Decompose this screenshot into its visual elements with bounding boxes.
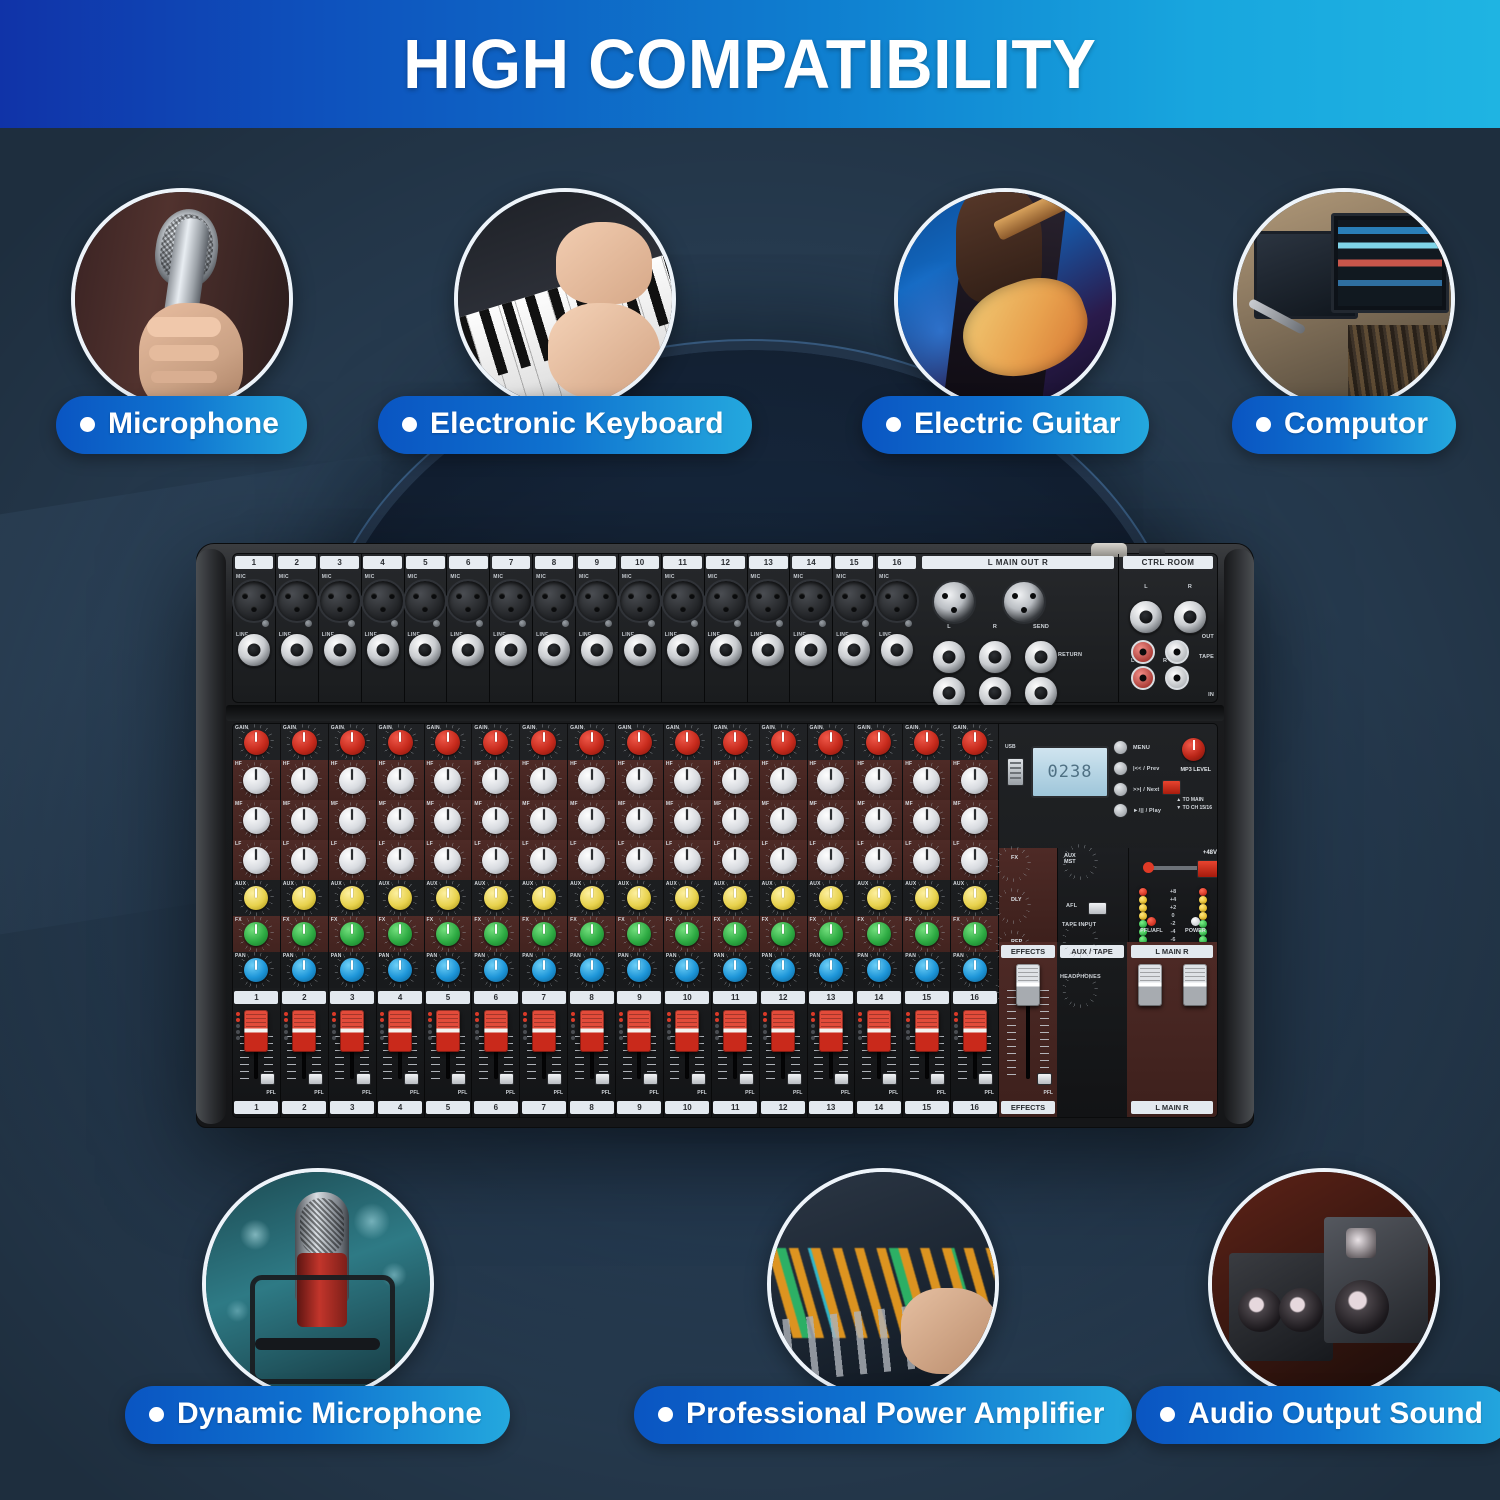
knob-row-lf-ch12: LF [760, 840, 807, 880]
fader-handle-ch10[interactable] [675, 1010, 699, 1052]
mf-knob-ch6[interactable] [482, 807, 509, 834]
mic-xlr-input[interactable] [361, 579, 405, 623]
aux-knob-ch4[interactable] [388, 886, 412, 910]
fader-track-ch15[interactable]: PFL [903, 1008, 950, 1101]
fader-track-ch14[interactable]: PFL [855, 1008, 902, 1101]
pan-knob-ch15[interactable] [915, 958, 939, 982]
pfl-button-ch11[interactable] [739, 1073, 754, 1085]
vu-row-+2: +2 [1139, 904, 1207, 912]
pan-knob-ch8[interactable] [580, 958, 604, 982]
feature-label-electric-guitar: Electric Guitar [862, 396, 1149, 454]
vu-led-right [1199, 904, 1207, 912]
knob-row-mf-ch5: MF [425, 800, 472, 840]
knob-label-mf: MF [714, 801, 722, 807]
pfl-label: PFL [458, 1090, 467, 1096]
lf-knob-ch4[interactable] [387, 847, 414, 874]
line-jack-input[interactable] [751, 633, 785, 667]
aux-knob-ch15[interactable] [915, 886, 939, 910]
fader-section-ch9: 9PFL9 [616, 988, 663, 1117]
fader-handle-ch1[interactable] [244, 1010, 268, 1052]
pfl-button-ch1[interactable] [260, 1073, 275, 1085]
gain-knob-ch2[interactable] [292, 730, 317, 755]
line-jack-input[interactable] [794, 633, 828, 667]
rear-channel-9: 9MICLINE [576, 554, 619, 702]
fader-section-ch12: 12PFL12 [760, 988, 807, 1117]
pfl-button-ch15[interactable] [930, 1073, 945, 1085]
afl-label: AFL [1066, 903, 1077, 909]
mic-xlr-input[interactable] [575, 579, 619, 623]
gain-knob-ch14[interactable] [866, 730, 891, 755]
rear-channel-number: 5 [406, 556, 445, 569]
hf-knob-ch16[interactable] [961, 767, 988, 794]
fx-knob-ch11[interactable] [723, 922, 747, 946]
gain-knob-ch7[interactable] [531, 730, 556, 755]
knob-row-mf-ch6: MF [472, 800, 519, 840]
aux-knob-ch3[interactable] [340, 886, 364, 910]
product-infographic: HIGH COMPATIBILITY Microphone Electronic… [0, 0, 1500, 1500]
knob-row-fx-ch6: FX [472, 916, 519, 952]
hf-knob-ch4[interactable] [387, 767, 414, 794]
feature-label-computer: Computor [1232, 396, 1456, 454]
pfl-button-ch8[interactable] [595, 1073, 610, 1085]
fader-track-ch3[interactable]: PFL [329, 1008, 376, 1101]
fader-section-ch3: 3PFL3 [329, 988, 376, 1117]
lf-knob-ch9[interactable] [626, 847, 653, 874]
fader-bottom-number: 3 [330, 1101, 374, 1114]
line-jack-input[interactable] [323, 633, 357, 667]
aux-knob-ch14[interactable] [867, 886, 891, 910]
gain-knob-ch12[interactable] [771, 730, 796, 755]
mp3-level-knob[interactable] [1182, 738, 1205, 761]
knob-row-gain-ch16: GAIN [951, 724, 998, 760]
mic-label: MIC [408, 574, 418, 580]
hf-knob-ch6[interactable] [482, 767, 509, 794]
mf-knob-ch3[interactable] [339, 807, 366, 834]
mf-knob-ch7[interactable] [530, 807, 557, 834]
pfl-button-ch10[interactable] [691, 1073, 706, 1085]
fader-handle-ch7[interactable] [532, 1010, 556, 1052]
fx-knob-ch5[interactable] [436, 922, 460, 946]
fader-handle-ch8[interactable] [580, 1010, 604, 1052]
pan-knob-ch7[interactable] [532, 958, 556, 982]
mf-knob-ch16[interactable] [961, 807, 988, 834]
fader-bottom-number: 8 [570, 1101, 614, 1114]
line-jack-input[interactable] [880, 633, 914, 667]
feature-label-electronic-keyboard: Electronic Keyboard [378, 396, 752, 454]
rear-channel-number: 7 [492, 556, 531, 569]
channel-strip-8: GAINHFMFLFAUXFXPAN8PFL8 [568, 724, 616, 1117]
pfl-button-ch12[interactable] [787, 1073, 802, 1085]
mic-xlr-input[interactable] [489, 579, 533, 623]
screw-icon [519, 620, 526, 627]
gain-knob-ch1[interactable] [244, 730, 269, 755]
mf-knob-ch4[interactable] [387, 807, 414, 834]
mic-xlr-input[interactable] [661, 579, 705, 623]
fx-knob-ch3[interactable] [340, 922, 364, 946]
panel-divider [226, 705, 1224, 721]
mic-xlr-input[interactable] [832, 579, 876, 623]
aux-knob-ch5[interactable] [436, 886, 460, 910]
channel-strip-5: GAINHFMFLFAUXFXPAN5PFL5 [425, 724, 473, 1117]
aux-knob-ch12[interactable] [771, 886, 795, 910]
mf-knob-ch10[interactable] [674, 807, 701, 834]
fader-handle-ch16[interactable] [963, 1010, 987, 1052]
hf-knob-ch10[interactable] [674, 767, 701, 794]
usb-label: USB [1005, 744, 1016, 750]
gain-knob-ch15[interactable] [914, 730, 939, 755]
main-fader-right[interactable] [1172, 958, 1217, 1101]
line-jack-input[interactable] [537, 633, 571, 667]
knob-label-hf: HF [570, 761, 577, 767]
feature-label-dynamic-microphone: Dynamic Microphone [125, 1386, 510, 1444]
gain-knob-ch8[interactable] [579, 730, 604, 755]
fader-track-ch6[interactable]: PFL [472, 1008, 519, 1101]
aux-knob-ch16[interactable] [963, 886, 987, 910]
rear-channel-4: 4MICLINE [362, 554, 405, 702]
knob-row-gain-ch5: GAIN [425, 724, 472, 760]
phantom-power-switch[interactable]: +48V [1143, 860, 1218, 876]
channel-leds [380, 1012, 384, 1040]
fader-handle-ch14[interactable] [867, 1010, 891, 1052]
channel-leds [236, 1012, 240, 1040]
knob-row-fx-ch8: FX [568, 916, 615, 952]
line-jack-input[interactable] [580, 633, 614, 667]
mf-knob-ch1[interactable] [243, 807, 270, 834]
mic-xlr-input[interactable] [403, 579, 447, 623]
knob-row-pan-ch9: PAN [616, 952, 663, 988]
aux-knob-ch8[interactable] [580, 886, 604, 910]
hf-knob-ch7[interactable] [530, 767, 557, 794]
fader-handle-ch6[interactable] [484, 1010, 508, 1052]
next-button[interactable]: >>| / Next [1113, 782, 1161, 797]
fader-track-ch10[interactable]: PFL [664, 1008, 711, 1101]
lf-knob-ch16[interactable] [961, 847, 988, 874]
knob-row-mf-ch14: MF [855, 800, 902, 840]
fader-handle-ch9[interactable] [627, 1010, 651, 1052]
mic-xlr-input[interactable] [446, 579, 490, 623]
fx-knob-ch6[interactable] [484, 922, 508, 946]
gain-knob-ch10[interactable] [675, 730, 700, 755]
effects-pfl-button[interactable] [1037, 1073, 1052, 1085]
line-jack-input[interactable] [837, 633, 871, 667]
fader-track-ch4[interactable]: PFL [377, 1008, 424, 1101]
knob-row-pan-ch13: PAN [808, 952, 855, 988]
gain-knob-ch6[interactable] [483, 730, 508, 755]
mf-knob-ch8[interactable] [578, 807, 605, 834]
lf-knob-ch12[interactable] [770, 847, 797, 874]
rear-channel-1: 1MICLINE [233, 554, 276, 702]
knob-row-pan-ch15: PAN [903, 952, 950, 988]
fader-handle-ch12[interactable] [771, 1010, 795, 1052]
line-jack-input[interactable] [494, 633, 528, 667]
mic-xlr-input[interactable] [618, 579, 662, 623]
main-out-xlr-right[interactable] [1002, 580, 1046, 624]
fader-handle-ch15[interactable] [915, 1010, 939, 1052]
gain-knob-ch5[interactable] [435, 730, 460, 755]
vu-scale-value: +2 [1170, 905, 1176, 911]
pfl-button-ch13[interactable] [834, 1073, 849, 1085]
mic-xlr-input[interactable] [746, 579, 790, 623]
effects-fader-bottom-label: EFFECTS [1001, 1101, 1054, 1114]
transport-buttons: MENU |<< / Prev >>| / Next ►/|| / P [1113, 740, 1161, 818]
line-jack-input[interactable] [451, 633, 485, 667]
main-out-jack-r-label: R [993, 624, 997, 630]
mf-knob-ch13[interactable] [817, 807, 844, 834]
mf-knob-ch11[interactable] [722, 807, 749, 834]
hf-knob-ch12[interactable] [770, 767, 797, 794]
line-jack-input[interactable] [623, 633, 657, 667]
mic-xlr-input[interactable] [875, 579, 919, 623]
hf-knob-ch9[interactable] [626, 767, 653, 794]
lf-knob-ch14[interactable] [865, 847, 892, 874]
fader-top-number: 8 [570, 991, 614, 1004]
knob-label-fx: FX [235, 917, 242, 923]
mf-knob-ch12[interactable] [770, 807, 797, 834]
hf-knob-ch5[interactable] [434, 767, 461, 794]
knob-label-hf: HF [379, 761, 386, 767]
fx-knob-ch15[interactable] [915, 922, 939, 946]
knob-label-mf: MF [379, 801, 387, 807]
pan-knob-ch16[interactable] [963, 958, 987, 982]
knob-row-fx-ch12: FX [760, 916, 807, 952]
knob-label-hf: HF [235, 761, 242, 767]
channel-strip-13: GAINHFMFLFAUXFXPAN13PFL13 [808, 724, 856, 1117]
aux-knob-ch6[interactable] [484, 886, 508, 910]
pfl-button-ch5[interactable] [451, 1073, 466, 1085]
fader-bottom-number: 11 [713, 1101, 757, 1114]
prev-button[interactable]: |<< / Prev [1113, 761, 1161, 776]
mf-knob-ch9[interactable] [626, 807, 653, 834]
mp3-level-label: MP3 LEVEL [1180, 767, 1211, 773]
menu-button[interactable]: MENU [1113, 740, 1161, 755]
knob-row-gain-ch3: GAIN [329, 724, 376, 760]
pfl-button-ch14[interactable] [882, 1073, 897, 1085]
fader-track-ch12[interactable]: PFL [760, 1008, 807, 1101]
knob-label-lf: LF [474, 841, 481, 847]
ctrl-room-jack-left[interactable] [1129, 600, 1163, 634]
fader-handle-ch3[interactable] [340, 1010, 364, 1052]
lf-knob-ch15[interactable] [913, 847, 940, 874]
fx-knob-ch16[interactable] [963, 922, 987, 946]
pfl-button-ch4[interactable] [404, 1073, 419, 1085]
mic-xlr-input[interactable] [318, 579, 362, 623]
line-jack-input[interactable] [366, 633, 400, 667]
usb-port-icon[interactable] [1007, 758, 1024, 786]
fader-section-ch11: 11PFL11 [712, 988, 759, 1117]
pfl-button-ch6[interactable] [499, 1073, 514, 1085]
hf-knob-ch1[interactable] [243, 767, 270, 794]
ctrl-room-jack-right[interactable] [1173, 600, 1207, 634]
knob-label-lf: LF [522, 841, 529, 847]
main-fader-left-handle[interactable] [1138, 964, 1162, 1006]
gain-knob-ch13[interactable] [818, 730, 843, 755]
knob-row-pan-ch12: PAN [760, 952, 807, 988]
fader-handle-ch4[interactable] [388, 1010, 412, 1052]
main-out-xlr-left[interactable] [932, 580, 976, 624]
gain-knob-ch9[interactable] [627, 730, 652, 755]
gain-knob-ch11[interactable] [723, 730, 748, 755]
channel-leds [715, 1012, 719, 1040]
aux-knob-ch7[interactable] [532, 886, 556, 910]
mic-xlr-input[interactable] [275, 579, 319, 623]
channel-strip-2: GAINHFMFLFAUXFXPAN2PFL2 [281, 724, 329, 1117]
lf-knob-ch5[interactable] [434, 847, 461, 874]
lf-knob-ch6[interactable] [482, 847, 509, 874]
pfl-label: PFL [506, 1090, 515, 1096]
line-jack-input[interactable] [280, 633, 314, 667]
knob-label-fx: FX [283, 917, 290, 923]
lf-knob-ch10[interactable] [674, 847, 701, 874]
fader-handle-ch2[interactable] [292, 1010, 316, 1052]
fx-knob-ch7[interactable] [532, 922, 556, 946]
tape-in-rca-right[interactable] [1165, 666, 1189, 690]
rear-channel-2: 2MICLINE [276, 554, 319, 702]
hf-knob-ch3[interactable] [339, 767, 366, 794]
line-jack-input[interactable] [666, 633, 700, 667]
knob-label-lf: LF [379, 841, 386, 847]
pan-knob-ch11[interactable] [723, 958, 747, 982]
aux-knob-ch13[interactable] [819, 886, 843, 910]
knob-row-aux-ch1: AUX [233, 880, 280, 916]
mf-knob-ch2[interactable] [291, 807, 318, 834]
pfl-button-ch2[interactable] [308, 1073, 323, 1085]
vu-scale-value: +8 [1170, 889, 1176, 895]
hf-knob-ch2[interactable] [291, 767, 318, 794]
fader-top-number: 12 [761, 991, 805, 1004]
lf-knob-ch7[interactable] [530, 847, 557, 874]
effects-fader-handle[interactable] [1016, 964, 1040, 1006]
fader-track-ch5[interactable]: PFL [425, 1008, 472, 1101]
mic-xlr-input[interactable] [789, 579, 833, 623]
knob-row-fx-ch3: FX [329, 916, 376, 952]
pan-knob-ch13[interactable] [819, 958, 843, 982]
knob-row-fx-ch10: FX [664, 916, 711, 952]
pan-knob-ch12[interactable] [771, 958, 795, 982]
pfl-button-ch3[interactable] [356, 1073, 371, 1085]
routing-switch[interactable] [1162, 780, 1181, 795]
gain-knob-ch16[interactable] [962, 730, 987, 755]
aux-knob-ch11[interactable] [723, 886, 747, 910]
pfl-button-ch9[interactable] [643, 1073, 658, 1085]
knob-label-mf: MF [235, 801, 243, 807]
fx-knob-ch12[interactable] [771, 922, 795, 946]
fader-track-ch1[interactable]: PFL [233, 1008, 280, 1101]
knob-row-lf-ch3: LF [329, 840, 376, 880]
fader-track-ch16[interactable]: PFL [951, 1008, 998, 1101]
main-fader-right-handle[interactable] [1183, 964, 1207, 1006]
line-jack-input[interactable] [237, 633, 271, 667]
mic-xlr-input[interactable] [232, 579, 276, 623]
lf-knob-ch2[interactable] [291, 847, 318, 874]
line-jack-input[interactable] [709, 633, 743, 667]
channel-strip-4: GAINHFMFLFAUXFXPAN4PFL4 [377, 724, 425, 1117]
mic-label: MIC [751, 574, 761, 580]
knob-label-hf: HF [810, 761, 817, 767]
screw-icon [476, 620, 483, 627]
lf-knob-ch1[interactable] [243, 847, 270, 874]
mf-knob-ch5[interactable] [434, 807, 461, 834]
fx-knob-ch14[interactable] [867, 922, 891, 946]
bullet-dot-icon [1256, 417, 1271, 432]
fader-track-ch9[interactable]: PFL [616, 1008, 663, 1101]
hf-knob-ch11[interactable] [722, 767, 749, 794]
afl-switch[interactable] [1088, 902, 1107, 915]
fader-track-ch13[interactable]: PFL [808, 1008, 855, 1101]
hf-knob-ch15[interactable] [913, 767, 940, 794]
gain-knob-ch4[interactable] [388, 730, 413, 755]
pan-knob-ch6[interactable] [484, 958, 508, 982]
knob-row-gain-ch9: GAIN [616, 724, 663, 760]
lf-knob-ch13[interactable] [817, 847, 844, 874]
lf-knob-ch11[interactable] [722, 847, 749, 874]
knob-label-mf: MF [618, 801, 626, 807]
line-jack-input[interactable] [408, 633, 442, 667]
knob-row-aux-ch4: AUX [377, 880, 424, 916]
mic-label: MIC [493, 574, 503, 580]
fader-track-ch8[interactable]: PFL [568, 1008, 615, 1101]
hf-knob-ch14[interactable] [865, 767, 892, 794]
mf-knob-ch15[interactable] [913, 807, 940, 834]
knob-label-hf: HF [283, 761, 290, 767]
knob-label-hf: HF [762, 761, 769, 767]
hf-knob-ch8[interactable] [578, 767, 605, 794]
fx-knob-ch13[interactable] [819, 922, 843, 946]
lf-knob-ch3[interactable] [339, 847, 366, 874]
pan-knob-ch14[interactable] [867, 958, 891, 982]
fx-knob-ch8[interactable] [580, 922, 604, 946]
pan-knob-ch3[interactable] [340, 958, 364, 982]
fader-track-ch2[interactable]: PFL [281, 1008, 328, 1101]
tape-in-rca-left[interactable] [1131, 666, 1155, 690]
lf-knob-ch8[interactable] [578, 847, 605, 874]
mic-xlr-input[interactable] [532, 579, 576, 623]
tape-out-rca-right[interactable] [1165, 640, 1189, 664]
knob-label-hf: HF [666, 761, 673, 767]
handheld-microphone-photo [75, 192, 289, 406]
knob-row-aux-ch12: AUX [760, 880, 807, 916]
pfl-button-ch16[interactable] [978, 1073, 993, 1085]
pfl-afl-led-icon [1147, 917, 1156, 926]
rear-channel-3: 3MICLINE [319, 554, 362, 702]
main-fader-left[interactable] [1127, 958, 1172, 1101]
fader-track-ch7[interactable]: PFL [520, 1008, 567, 1101]
fader-handle-ch11[interactable] [723, 1010, 747, 1052]
gain-knob-ch3[interactable] [340, 730, 365, 755]
knob-row-gain-ch13: GAIN [808, 724, 855, 760]
fader-bottom-number: 7 [522, 1101, 566, 1114]
effects-fader-track[interactable]: PFL [999, 962, 1057, 1101]
play-pause-button[interactable]: ►/|| / Play [1113, 803, 1161, 818]
play-pause-button-icon [1113, 803, 1128, 818]
fader-track-ch11[interactable]: PFL [712, 1008, 759, 1101]
pan-knob-ch5[interactable] [436, 958, 460, 982]
pfl-afl-label: PFL/AFL [1140, 928, 1163, 934]
fader-section-ch6: 6PFL6 [472, 988, 519, 1117]
mic-xlr-input[interactable] [704, 579, 748, 623]
knob-label-fx: FX [522, 917, 529, 923]
fx-knob-ch4[interactable] [388, 922, 412, 946]
fader-section-ch10: 10PFL10 [664, 988, 711, 1117]
hf-knob-ch13[interactable] [817, 767, 844, 794]
channel-strip-bank: GAINHFMFLFAUXFXPAN1PFL1GAINHFMFLFAUXFXPA… [233, 724, 998, 1117]
pan-knob-ch4[interactable] [388, 958, 412, 982]
fader-handle-ch5[interactable] [436, 1010, 460, 1052]
knob-label-fx: FX [905, 917, 912, 923]
mf-knob-ch14[interactable] [865, 807, 892, 834]
rear-channel-number: 12 [706, 556, 745, 569]
pfl-button-ch7[interactable] [547, 1073, 562, 1085]
fader-handle-ch13[interactable] [819, 1010, 843, 1052]
